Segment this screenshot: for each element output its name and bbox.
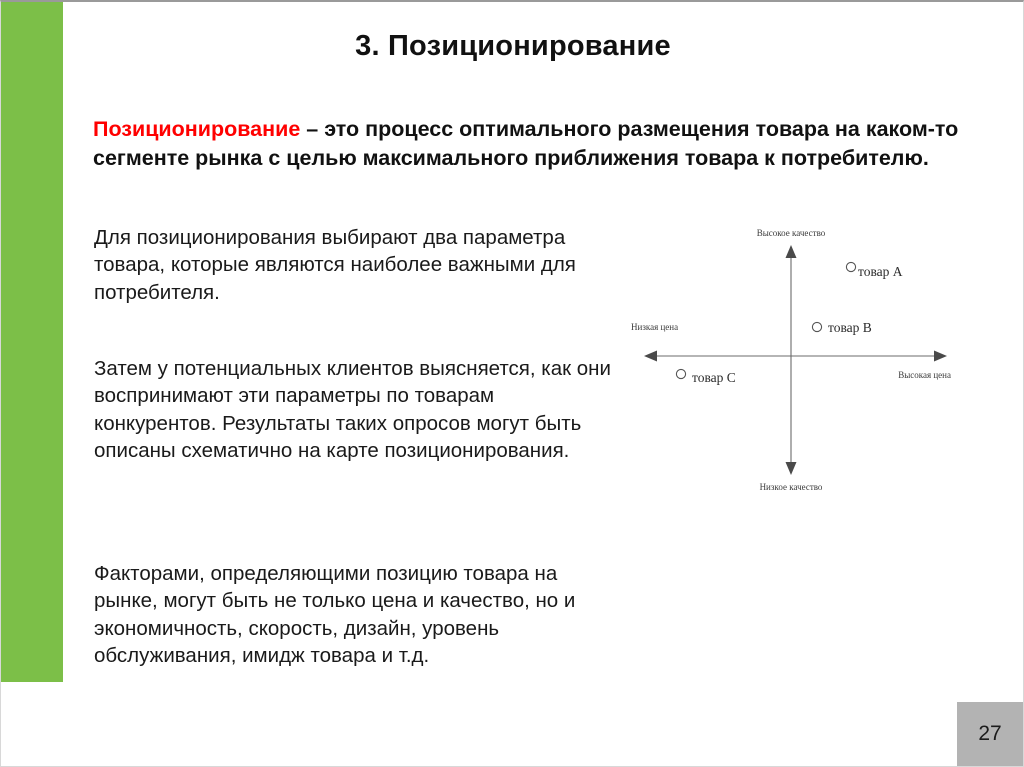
page-number-value: 27	[978, 722, 1001, 746]
axis-arrow-left	[644, 351, 657, 362]
positioning-map-diagram: Высокое качество Низкое качество Низкая …	[613, 218, 1011, 496]
axis-label-right: Высокая цена	[898, 370, 951, 380]
axis-arrow-down	[786, 462, 797, 475]
data-point-marker	[846, 262, 855, 271]
data-point-label-c: товар C	[692, 370, 736, 385]
axis-label-top: Высокое качество	[757, 228, 826, 238]
axis-arrow-right	[934, 351, 947, 362]
axis-arrow-up	[786, 245, 797, 258]
data-point-label-b: товар B	[828, 320, 872, 335]
data-point-marker	[676, 369, 685, 378]
axis-label-bottom: Низкое качество	[760, 482, 823, 492]
paragraph-parameters: Для позиционирования выбирают два параме…	[94, 224, 619, 306]
page-title: 3. Позиционирование	[63, 30, 963, 63]
data-point-label-a: товар А	[858, 264, 903, 279]
page-number-badge: 27	[957, 702, 1023, 766]
definition-keyword: Позиционирование	[93, 117, 300, 141]
green-accent-bar	[1, 2, 63, 682]
paragraph-factors: Факторами, определяющими позицию товара …	[94, 560, 619, 670]
slide-canvas: 3. Позиционирование Позиционирование – э…	[0, 0, 1024, 767]
paragraph-surveys: Затем у потенциальных клиентов выясняетс…	[94, 355, 619, 465]
axis-label-left: Низкая цена	[631, 322, 678, 332]
data-point-marker	[812, 322, 821, 331]
definition-paragraph: Позиционирование – это процесс оптимальн…	[93, 115, 1008, 172]
